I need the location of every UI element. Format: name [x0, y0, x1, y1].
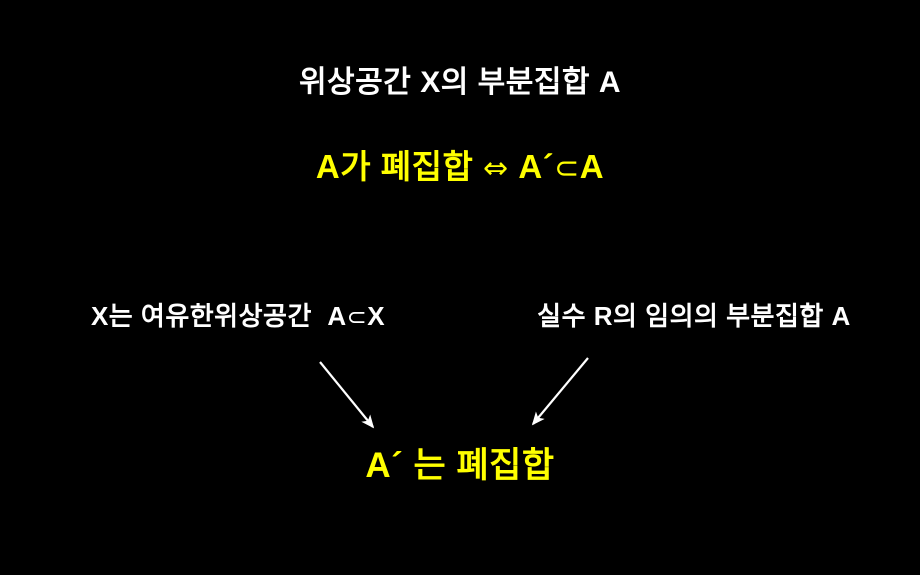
iff-operator-icon: ⇔ — [483, 151, 509, 186]
slide-canvas: 위상공간 X의 부분집합 A A가 폐집합 ⇔ A´⊂A X는 여유한위상공간 … — [0, 0, 920, 575]
premise-right: 실수 R의 임의의 부분집합 A — [492, 303, 896, 329]
conclusion-statement: A´ 는 폐집합 — [0, 448, 920, 483]
equivalence-right-term-a: A´ — [518, 148, 554, 185]
page-title: 위상공간 X의 부분집합 A — [0, 68, 920, 98]
equivalence-left-term: A가 폐집합 — [316, 148, 473, 185]
premise-left: X는 여유한위상공간 A⊂X — [38, 303, 438, 329]
arrow-from-right-premise — [533, 358, 588, 424]
subset-symbol-icon: ⊂ — [347, 303, 368, 331]
subset-symbol-icon: ⊂ — [554, 151, 580, 186]
premise-left-relation-right: X — [367, 301, 385, 331]
premise-left-text: X는 여유한위상공간 — [91, 301, 312, 331]
equivalence-right-term-b: A — [580, 148, 604, 185]
arrow-from-left-premise — [320, 362, 373, 427]
premise-left-relation-left: A — [327, 301, 346, 331]
premise-right-text: 실수 R의 임의의 부분집합 A — [537, 301, 851, 331]
equivalence-statement: A가 폐집합 ⇔ A´⊂A — [0, 150, 920, 184]
